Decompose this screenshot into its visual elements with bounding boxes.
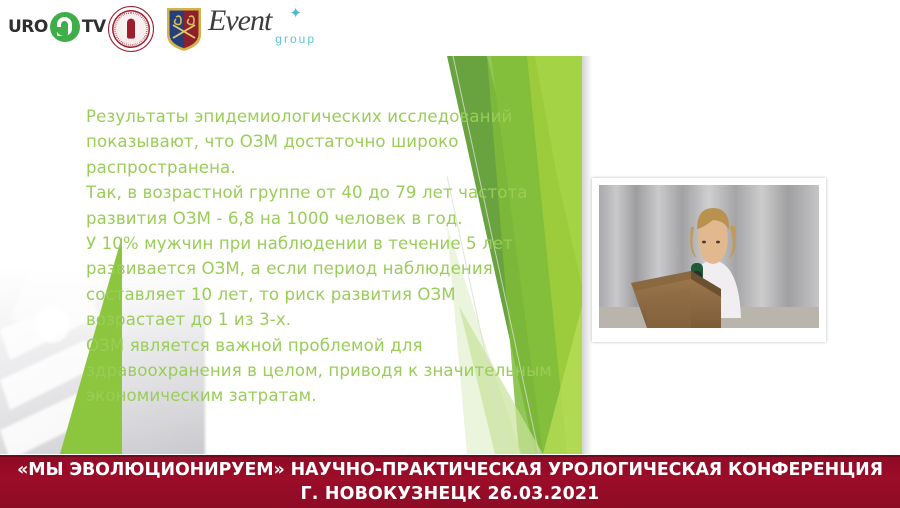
banner-line-2: Г. НОВОКУЗНЕЦК 26.03.2021 xyxy=(0,482,900,506)
uro-tv-logo: URO TV xyxy=(8,12,106,42)
logo-bar: URO TV Event ✦ group xyxy=(0,0,900,56)
crest-shield-icon xyxy=(164,5,204,53)
banner-top-rule xyxy=(0,455,900,457)
speaker-video-image xyxy=(599,185,819,328)
star-icon: ✦ xyxy=(289,4,302,22)
slide-canvas: Результаты эпидемиологических исследован… xyxy=(0,56,582,454)
banner-text: «МЫ ЭВОЛЮЦИОНИРУЕМ» НАУЧНО-ПРАКТИЧЕСКАЯ … xyxy=(0,455,900,506)
banner-line-1: «МЫ ЭВОЛЮЦИОНИРУЕМ» НАУЧНО-ПРАКТИЧЕСКАЯ … xyxy=(0,458,900,482)
conference-banner: «МЫ ЭВОЛЮЦИОНИРУЕМ» НАУЧНО-ПРАКТИЧЕСКАЯ … xyxy=(0,455,900,508)
presentation-stage: URO TV Event ✦ group xyxy=(0,0,900,508)
uro-tv-logo-text-left: URO xyxy=(8,17,48,37)
speaker-video-thumbnail[interactable] xyxy=(592,178,826,342)
speaker-video-frame xyxy=(599,185,819,328)
medical-academy-seal-logo xyxy=(108,6,154,52)
uro-tv-leaf-icon xyxy=(50,12,80,42)
event-group-logo: Event ✦ group xyxy=(208,6,318,52)
slide-edge-shadow xyxy=(582,56,592,454)
seal-figure-icon xyxy=(127,19,135,39)
university-crest-logo xyxy=(164,5,204,53)
uro-tv-logo-text-right: TV xyxy=(82,17,106,37)
slide-body-text: Результаты эпидемиологических исследован… xyxy=(86,104,556,409)
